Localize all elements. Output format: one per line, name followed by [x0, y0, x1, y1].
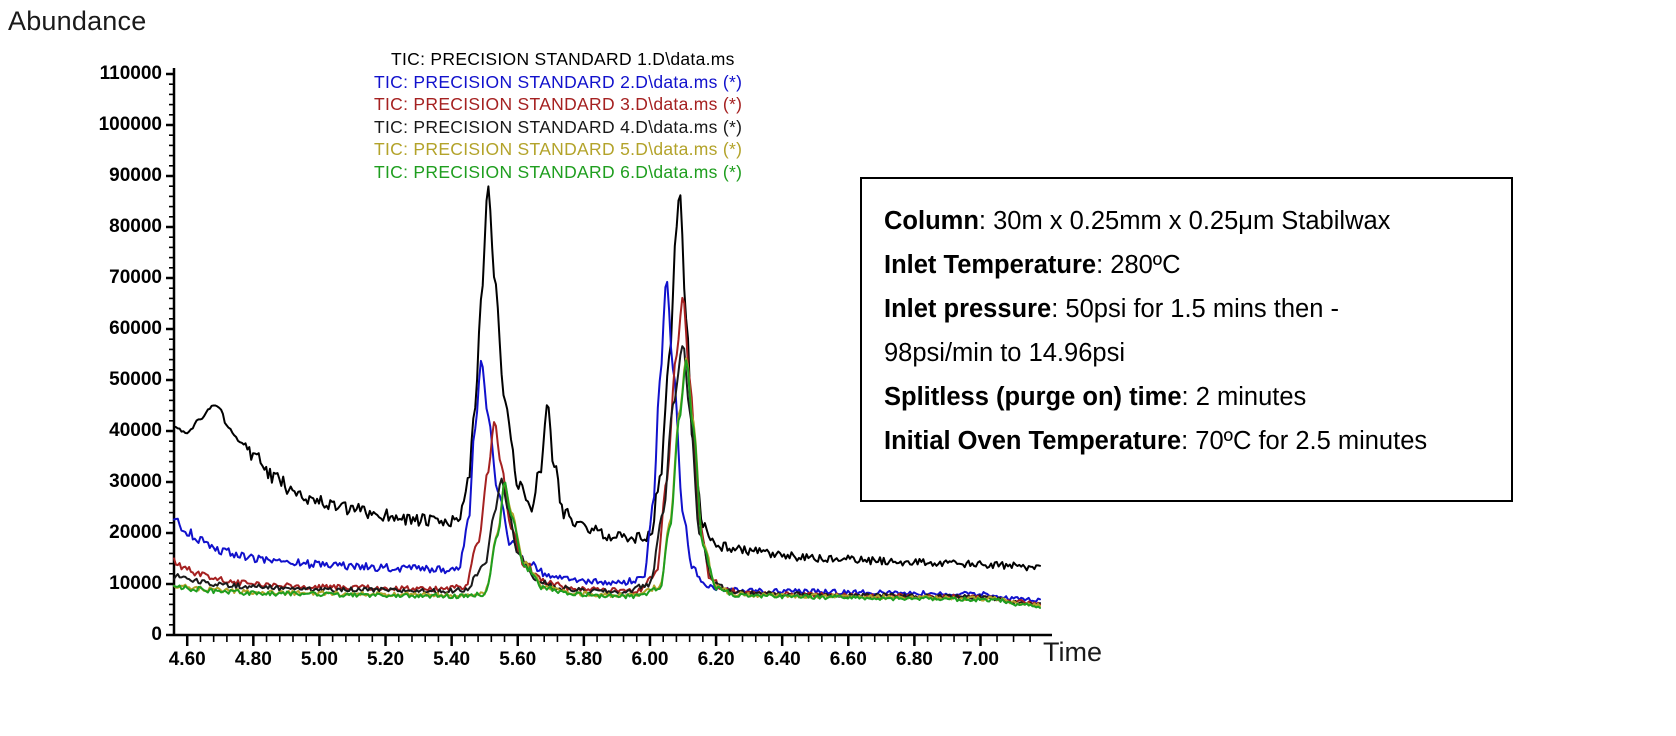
y-tick-label: 10000 — [52, 573, 162, 595]
x-tick-label: 5.20 — [351, 649, 421, 671]
x-tick-label: 6.00 — [615, 649, 685, 671]
y-tick-label: 40000 — [52, 420, 162, 442]
x-tick-label: 6.80 — [879, 649, 949, 671]
y-tick-label: 30000 — [52, 471, 162, 493]
method-parameter-line-4: 98psi/min to 14.96psi — [884, 331, 1511, 375]
method-parameter-value: : 50psi for 1.5 mins then - — [1051, 295, 1339, 323]
y-tick-label: 110000 — [52, 63, 162, 85]
legend-item-5: TIC: PRECISION STANDARD 5.D\data.ms (*) — [374, 138, 742, 161]
y-tick-label: 50000 — [52, 369, 162, 391]
method-parameter-line-3: Inlet pressure: 50psi for 1.5 mins then … — [884, 287, 1511, 331]
method-parameter-value: : 30m x 0.25mm x 0.25μm Stabilwax — [979, 207, 1391, 235]
x-tick-label: 5.40 — [417, 649, 487, 671]
x-tick-label: 6.20 — [681, 649, 751, 671]
y-tick-label: 100000 — [52, 114, 162, 136]
y-tick-label: 20000 — [52, 522, 162, 544]
method-parameter-line-6: Initial Oven Temperature: 70ºC for 2.5 m… — [884, 419, 1511, 463]
x-tick-label: 4.80 — [218, 649, 288, 671]
y-tick-label: 70000 — [52, 267, 162, 289]
method-parameter-label: Column — [884, 207, 979, 235]
method-parameter-value: : 2 minutes — [1182, 383, 1307, 411]
y-tick-label: 90000 — [52, 165, 162, 187]
method-parameter-value: : 70ºC for 2.5 minutes — [1181, 427, 1427, 455]
legend-item-4: TIC: PRECISION STANDARD 4.D\data.ms (*) — [374, 116, 742, 139]
legend-item-3: TIC: PRECISION STANDARD 3.D\data.ms (*) — [374, 93, 742, 116]
x-tick-label: 7.00 — [946, 649, 1016, 671]
method-parameter-line-2: Inlet Temperature: 280ºC — [884, 243, 1511, 287]
x-tick-label: 5.60 — [483, 649, 553, 671]
method-parameter-line-1: Column: 30m x 0.25mm x 0.25μm Stabilwax — [884, 199, 1511, 243]
y-tick-label: 60000 — [52, 318, 162, 340]
legend-item-1: TIC: PRECISION STANDARD 1.D\data.ms — [374, 48, 742, 71]
method-parameters-box: Column: 30m x 0.25mm x 0.25μm StabilwaxI… — [860, 177, 1513, 502]
method-parameter-line-5: Splitless (purge on) time: 2 minutes — [884, 375, 1511, 419]
x-tick-label: 5.80 — [549, 649, 619, 671]
method-parameter-value: 98psi/min to 14.96psi — [884, 339, 1125, 367]
x-tick-label: 6.40 — [747, 649, 817, 671]
y-tick-label: 80000 — [52, 216, 162, 238]
method-parameter-value: : 280ºC — [1096, 251, 1180, 279]
legend-item-6: TIC: PRECISION STANDARD 6.D\data.ms (*) — [374, 161, 742, 184]
method-parameter-label: Splitless (purge on) time — [884, 383, 1182, 411]
x-tick-label: 6.60 — [813, 649, 883, 671]
y-tick-label: 0 — [52, 624, 162, 646]
x-tick-label: 5.00 — [284, 649, 354, 671]
method-parameter-label: Initial Oven Temperature — [884, 427, 1181, 455]
method-parameter-label: Inlet pressure — [884, 295, 1051, 323]
legend-item-2: TIC: PRECISION STANDARD 2.D\data.ms (*) — [374, 71, 742, 94]
legend: TIC: PRECISION STANDARD 1.D\data.msTIC: … — [374, 48, 742, 183]
x-tick-label: 4.60 — [152, 649, 222, 671]
method-parameter-label: Inlet Temperature — [884, 251, 1096, 279]
